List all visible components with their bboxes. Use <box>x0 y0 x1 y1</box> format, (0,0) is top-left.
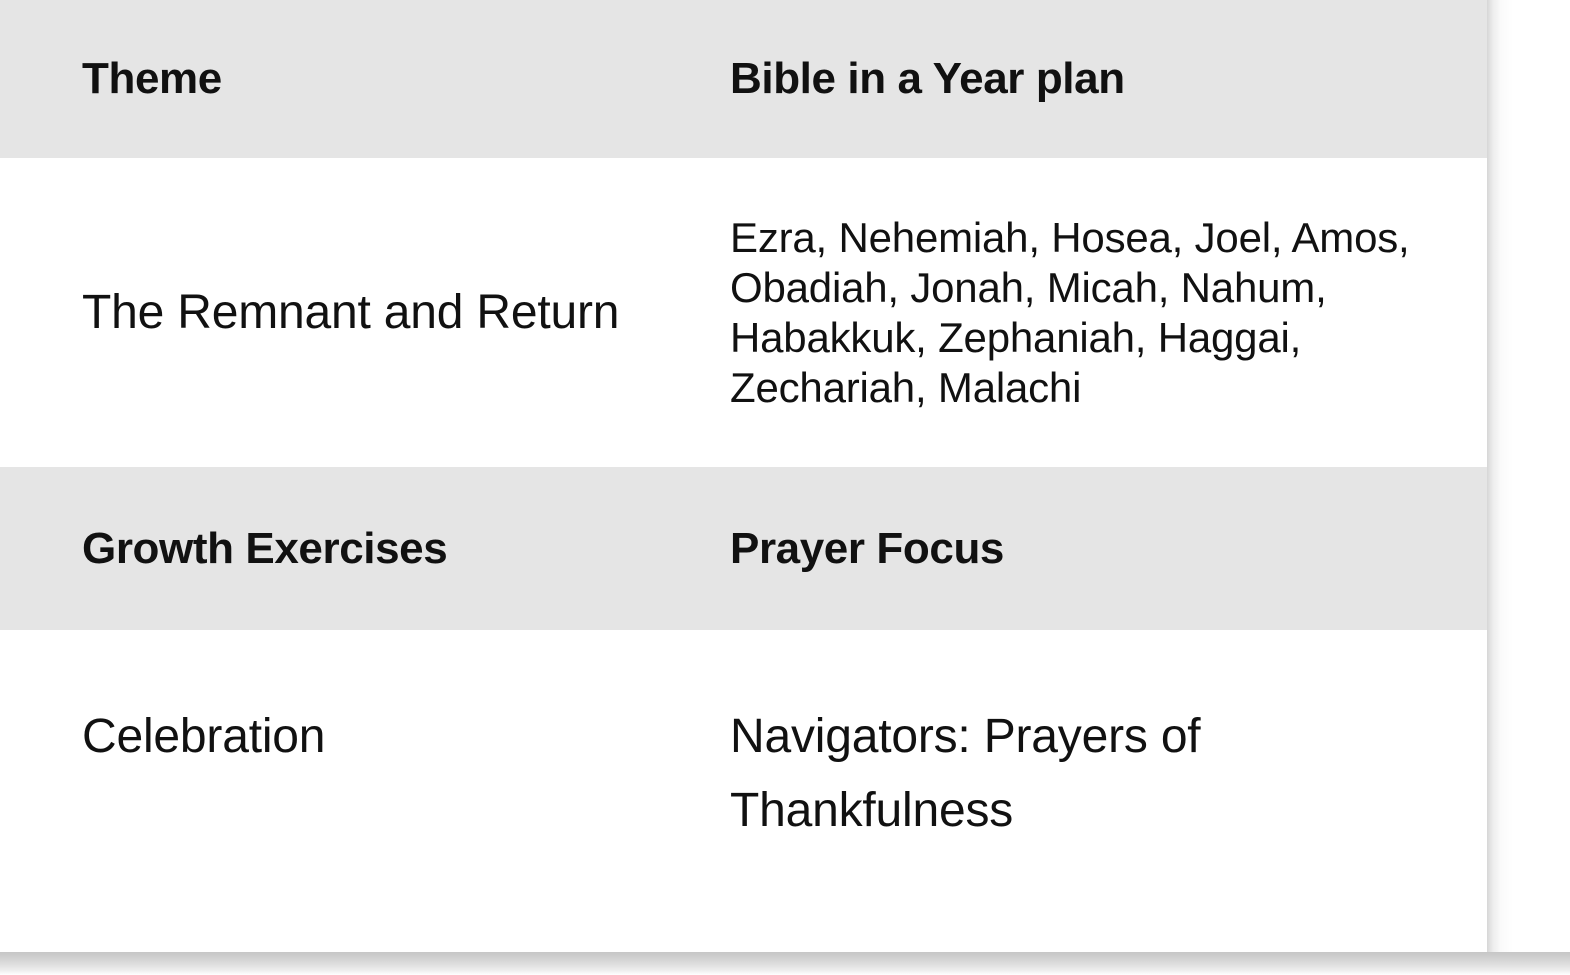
reading-plan-table: Theme Bible in a Year plan The Remnant a… <box>0 0 1487 952</box>
column-header-theme-label: Theme <box>82 53 222 105</box>
table-row: The Remnant and Return Ezra, Nehemiah, H… <box>0 158 1487 467</box>
table-header-row: Theme Bible in a Year plan <box>0 0 1487 158</box>
cell-prayer-focus-value: Navigators: Prayers of Thankfulness <box>704 630 1487 952</box>
cell-growth-exercise-value: Celebration <box>0 630 704 952</box>
column-header-bible-plan: Bible in a Year plan <box>704 0 1487 158</box>
column-header-growth-exercises-label: Growth Exercises <box>82 523 447 575</box>
growth-exercise-value-text: Celebration <box>82 700 325 774</box>
cell-bible-plan-value: Ezra, Nehemiah, Hosea, Joel, Amos, Obadi… <box>704 158 1487 467</box>
column-header-growth-exercises: Growth Exercises <box>0 467 704 630</box>
bible-plan-value-text: Ezra, Nehemiah, Hosea, Joel, Amos, Obadi… <box>730 213 1447 413</box>
theme-value-text: The Remnant and Return <box>82 276 619 350</box>
table-row: Celebration Navigators: Prayers of Thank… <box>0 630 1487 952</box>
column-header-bible-plan-label: Bible in a Year plan <box>730 53 1125 105</box>
bottom-edge-shadow <box>0 952 1570 975</box>
table-screen: Theme Bible in a Year plan The Remnant a… <box>0 0 1570 975</box>
table-header-row: Growth Exercises Prayer Focus <box>0 467 1487 630</box>
cell-theme-value: The Remnant and Return <box>0 158 704 467</box>
column-header-prayer-focus: Prayer Focus <box>704 467 1487 630</box>
column-header-theme: Theme <box>0 0 704 158</box>
right-edge-shadow <box>1487 0 1570 952</box>
column-header-prayer-focus-label: Prayer Focus <box>730 523 1004 575</box>
prayer-focus-value-text: Navigators: Prayers of Thankfulness <box>730 700 1447 848</box>
